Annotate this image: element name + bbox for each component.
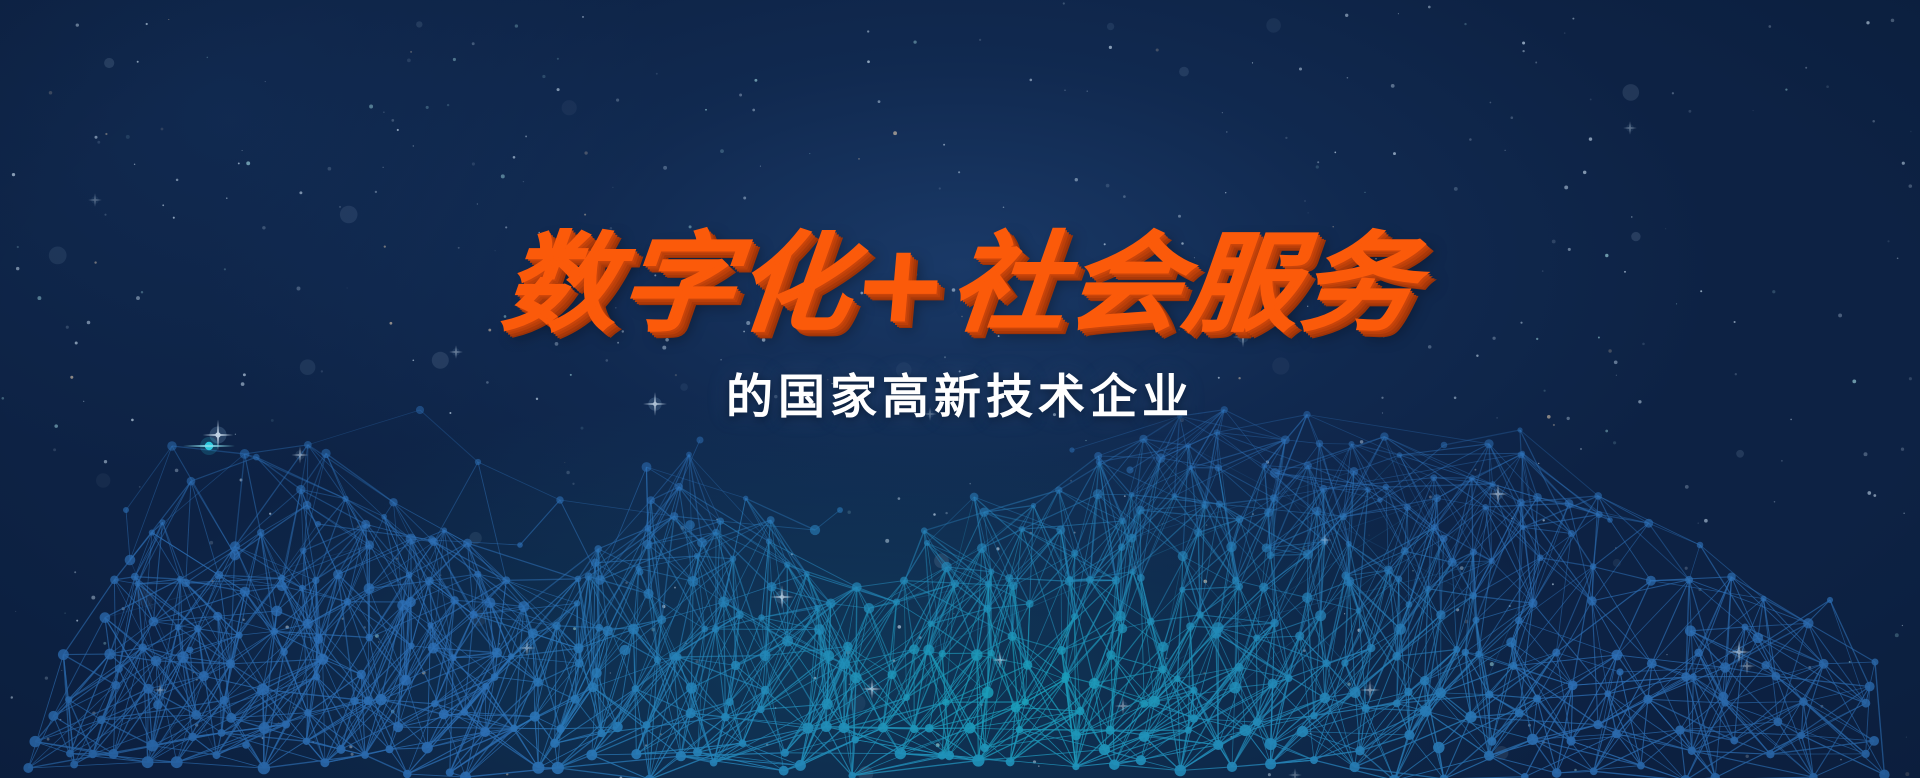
hero-headline: 数字化+社会服务: [498, 228, 1422, 342]
hero-banner: 数字化+社会服务 的国家高新技术企业: [0, 0, 1920, 778]
hero-subheadline: 的国家高新技术企业: [0, 358, 1920, 427]
